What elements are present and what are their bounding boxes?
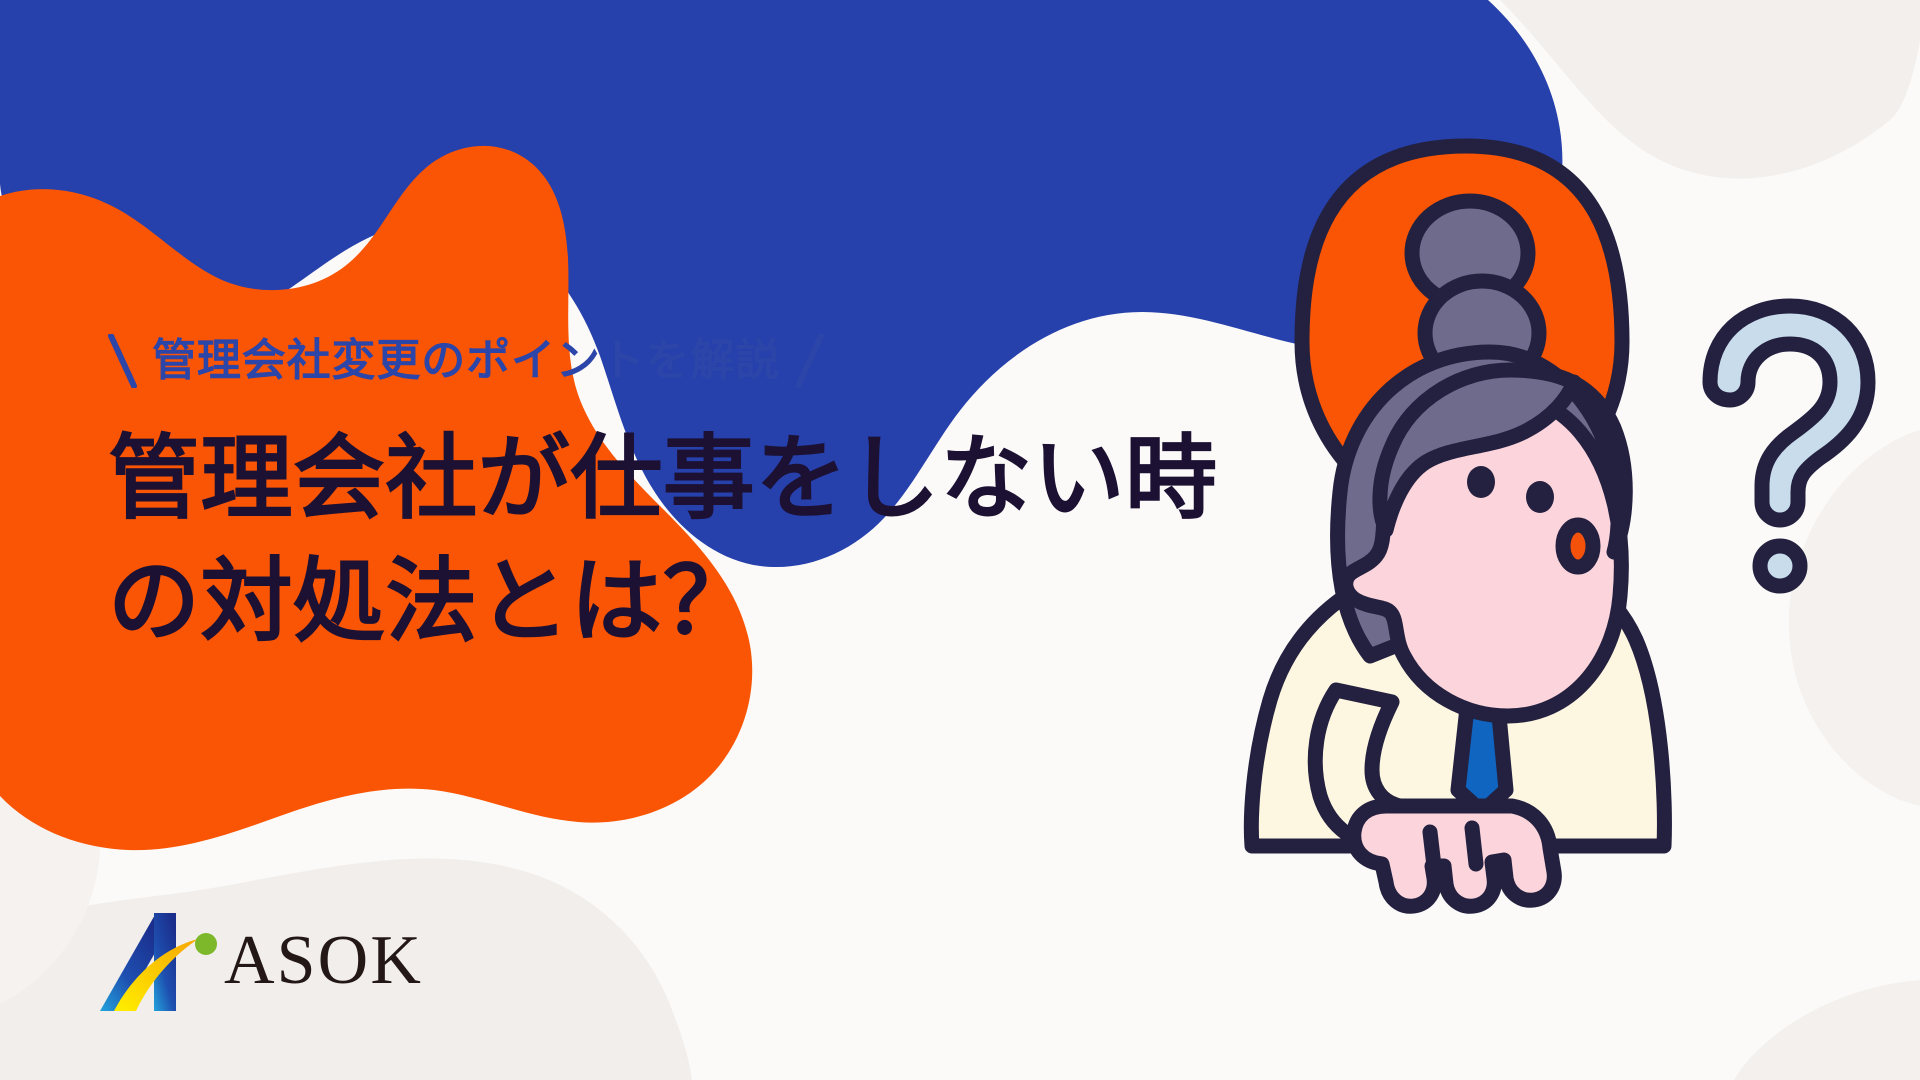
open-mouth bbox=[1563, 525, 1593, 567]
page-title-line-1: 管理会社が仕事をしない時 bbox=[108, 418, 1288, 541]
eyebrow-row: 管理会社変更のポイントを解説 bbox=[108, 330, 1288, 392]
thumbnail-canvas: 管理会社変更のポイントを解説 管理会社が仕事をしない時 の対処法とは？ bbox=[0, 0, 1920, 1080]
eye-right bbox=[1526, 481, 1554, 513]
hand bbox=[1354, 806, 1555, 906]
green-dot-icon bbox=[195, 933, 217, 955]
asok-wordmark: ASOK bbox=[224, 926, 423, 1002]
hand-finger-line-1 bbox=[1430, 832, 1434, 866]
hand-finger-line-2 bbox=[1472, 828, 1476, 864]
headline-block: 管理会社変更のポイントを解説 管理会社が仕事をしない時 の対処法とは？ bbox=[108, 330, 1288, 665]
page-title-line-2: の対処法とは？ bbox=[108, 541, 1288, 664]
question-mark bbox=[1710, 306, 1868, 520]
eye-left bbox=[1467, 466, 1495, 498]
page-title: 管理会社が仕事をしない時 の対処法とは？ bbox=[108, 418, 1288, 665]
eyebrow-label: 管理会社変更のポイントを解説 bbox=[152, 339, 780, 383]
question-mark-dot bbox=[1760, 546, 1800, 586]
asok-logo[interactable]: ASOK bbox=[100, 908, 423, 1020]
slash-right-icon bbox=[794, 334, 824, 388]
slash-left-icon bbox=[108, 334, 138, 388]
asok-a-mark-icon bbox=[100, 911, 218, 1017]
